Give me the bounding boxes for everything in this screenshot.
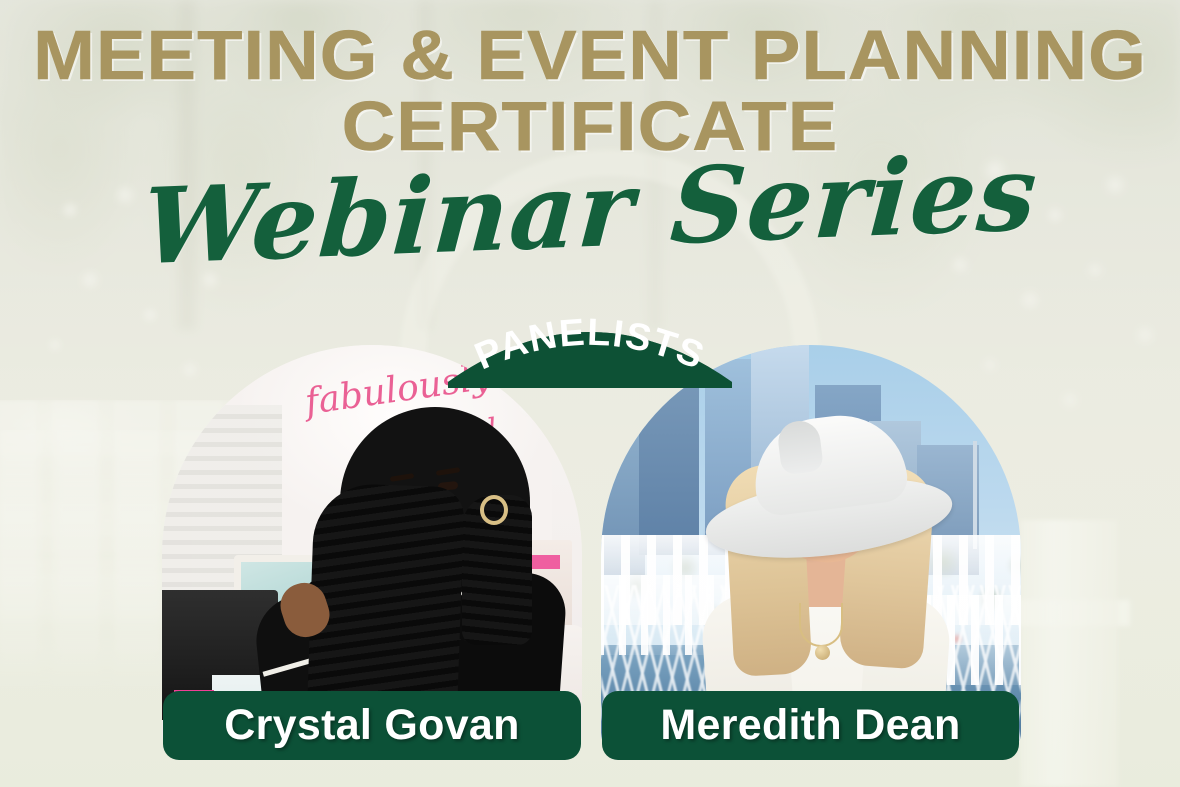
webinar-promo-poster: MEETING & EVENT PLANNING CERTIFICATE Web… <box>0 0 1180 787</box>
md-construction-crane <box>973 441 977 549</box>
title-line-1: MEETING & EVENT PLANNING <box>0 22 1180 89</box>
nameplate-label-crystal-govan: Crystal Govan <box>224 701 519 750</box>
md-necklace <box>799 603 843 647</box>
md-pendant <box>815 645 830 660</box>
panelist-photo-crystal-govan: fabulously hosted <box>162 345 582 745</box>
nameplate-meredith-dean: Meredith Dean <box>602 691 1019 760</box>
nameplate-label-meredith-dean: Meredith Dean <box>660 701 960 750</box>
cg-hoop-earring <box>480 495 508 525</box>
nameplate-crystal-govan: Crystal Govan <box>163 691 581 760</box>
panelists-banner: PANELISTS <box>440 296 740 388</box>
panelist-photo-meredith-dean <box>601 345 1021 745</box>
